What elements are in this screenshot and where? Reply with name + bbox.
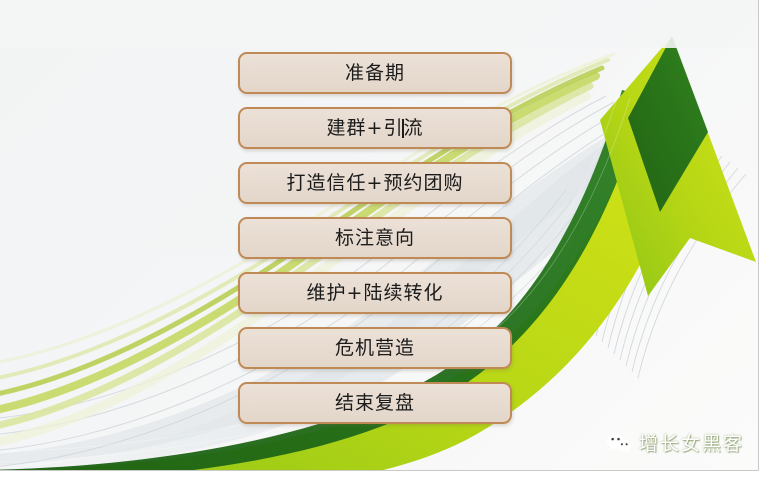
process-step-list: 准备期 建群+引流 打造信任+预约团购 标注意向 维护+陆续转化 危机营造 结束… (238, 52, 516, 437)
process-step-7[interactable]: 结束复盘 (238, 382, 512, 424)
process-step-6[interactable]: 危机营造 (238, 327, 512, 369)
process-step-2-label-part1: 建群+引 (327, 117, 404, 139)
process-step-4-label: 标注意向 (335, 229, 415, 248)
process-step-1-label: 准备期 (345, 64, 405, 83)
slide-canvas: 准备期 建群+引流 打造信任+预约团购 标注意向 维护+陆续转化 危机营造 结束… (0, 0, 772, 481)
process-step-1[interactable]: 准备期 (238, 52, 512, 94)
slide-inner-canvas: 准备期 建群+引流 打造信任+预约团购 标注意向 维护+陆续转化 危机营造 结束… (0, 0, 759, 471)
wechat-icon (606, 432, 632, 454)
process-step-5-label: 维护+陆续转化 (307, 284, 444, 303)
process-step-6-label: 危机营造 (335, 339, 415, 358)
process-step-3-label: 打造信任+预约团购 (287, 174, 464, 193)
process-step-2[interactable]: 建群+引流 (238, 107, 512, 149)
process-step-3[interactable]: 打造信任+预约团购 (238, 162, 512, 204)
process-step-7-label: 结束复盘 (335, 394, 415, 413)
brand-name: 增长女黑客 (639, 429, 744, 456)
process-step-2-label: 建群+引流 (327, 119, 424, 138)
process-step-2-label-part2: 流 (403, 117, 423, 139)
process-step-5[interactable]: 维护+陆续转化 (238, 272, 512, 314)
brand-watermark: 增长女黑客 (606, 429, 744, 456)
process-step-4[interactable]: 标注意向 (238, 217, 512, 259)
